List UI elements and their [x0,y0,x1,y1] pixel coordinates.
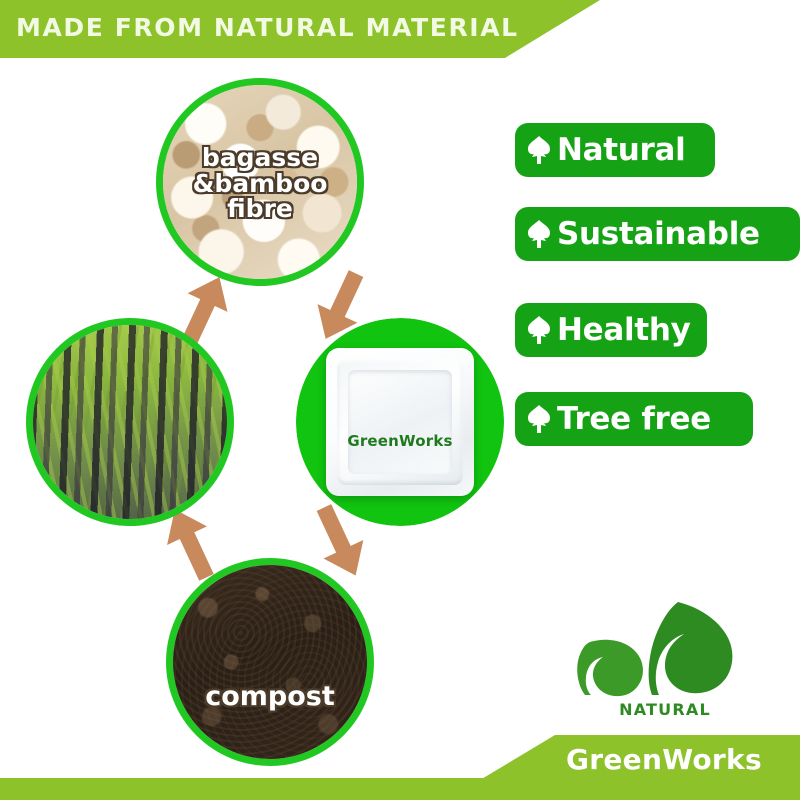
sugarcane-field-photo [33,325,227,519]
brand-logo: NATURAL [560,600,770,730]
badge-sustainable-label: Sustainable [557,219,760,250]
two-leaves-icon [560,600,770,705]
leaf-icon [526,315,552,345]
badge-sustainable[interactable]: Sustainable [515,207,800,261]
cycle-node-plate[interactable]: GreenWorks [296,318,504,526]
square-plate-product: GreenWorks [326,348,474,496]
plate-brand-label: GreenWorks [326,432,474,450]
plate-well [348,370,452,474]
leaf-icon [526,404,552,434]
page-title: MADE FROM NATURAL MATERIAL [16,13,519,42]
cycle-node-bagasse[interactable]: bagasse &bamboo fibre [156,78,364,286]
badge-natural[interactable]: Natural [515,123,715,177]
badge-treefree-label: Tree free [557,404,711,435]
badge-healthy-label: Healthy [557,315,691,346]
badge-natural-label: Natural [557,135,686,166]
bagasse-bamboo-fibre-photo [163,85,357,279]
poster-canvas: MADE FROM NATURAL MATERIAL bagasse &bamb… [0,0,800,800]
footer-strip [0,778,800,800]
badge-treefree[interactable]: Tree free [515,392,753,446]
badge-healthy[interactable]: Healthy [515,303,707,357]
logo-caption: NATURAL [560,700,770,719]
footer-brand-label: GreenWorks [566,743,762,776]
cycle-node-compost[interactable]: compost [166,558,374,766]
leaf-icon [526,219,552,249]
plate-rim [337,359,463,485]
cycle-node-sugarcane[interactable] [26,318,234,526]
leaf-icon [526,135,552,165]
compost-soil-photo [173,565,367,759]
